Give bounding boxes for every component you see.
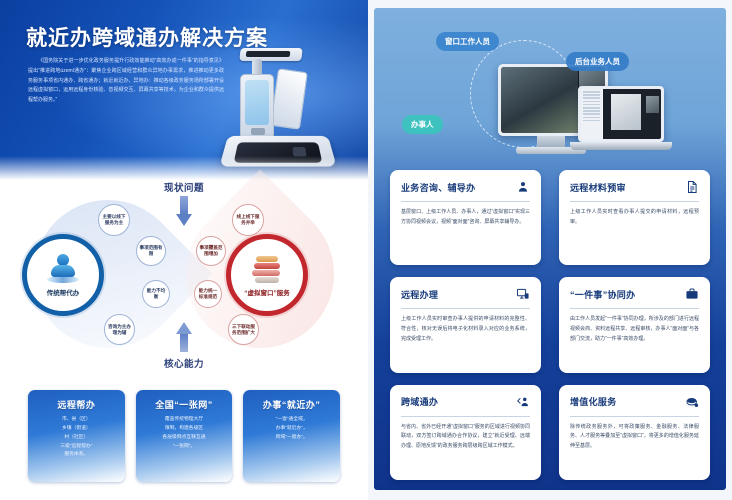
card-divider: [570, 416, 699, 417]
card-divider: [570, 201, 699, 202]
tag-window-staff: 窗口工作人员: [436, 32, 499, 51]
box-body: 覆盖传统物理大厅限制，构建各级区各层级网点互联互通“一张网”。: [142, 416, 227, 451]
card-body: 除传统政务服务外，可将政策服务、金融服务、法律服务、人才服务等叠加至“虚拟窗口”…: [570, 423, 699, 452]
card-divider: [570, 308, 699, 309]
scanner-bar: [239, 48, 302, 61]
laptop-base: [570, 142, 672, 150]
card-title: 跨域通办: [401, 395, 438, 408]
bubble-left-4: 咨询为主办理为辅: [104, 314, 135, 345]
card-divider: [401, 308, 530, 309]
user-icon: [516, 180, 530, 194]
card-title: “一件事”协同办: [570, 288, 635, 301]
card-title: 远程材料预审: [570, 181, 626, 194]
stacked-docs-icon: [250, 254, 284, 284]
feature-cards-grid: 业务咨询、辅导办 基层窗口、上级工作人员、办事人，通过“虚拟窗口”实现三方协同视…: [374, 170, 726, 480]
infographic-page: 就近办跨域通办解决方案 《国务院关于进一步优化政务服务提升行政效能推动“高效办成…: [0, 0, 732, 500]
tag-applicant: 办事人: [402, 115, 443, 134]
card-divider: [401, 416, 530, 417]
capability-box-remote-assist[interactable]: 远程帮办 市、县（区）乡镇（街道）村（社区）三级“远程帮办”服务体系。: [28, 390, 125, 482]
right-core-label: “虚拟窗口”服务: [244, 287, 290, 297]
bubble-right-3: 能力统一标准规范: [194, 280, 222, 308]
remote-service-illustration: 窗口工作人员 后台业务人员 办事人: [374, 8, 726, 166]
box-title: 远程帮办: [34, 398, 119, 411]
self-service-kiosk-illustration: [222, 48, 338, 170]
video-main-feed: [501, 67, 578, 133]
card-title: 增值化服务: [570, 395, 617, 408]
capability-boxes: 远程帮办 市、县（区）乡镇（街道）村（社区）三级“远程帮办”服务体系。 全国“一…: [28, 390, 340, 482]
capability-box-nearby-service[interactable]: 办事“就近办” “一窗”通全域，办事“就近办”，跨域“一窗办”。: [243, 390, 340, 482]
card-body: 由工作人员发起“一件事”协同办理，所涉及的部门进行远程视频会商、资料远程共享、远…: [570, 315, 699, 344]
right-panel: 窗口工作人员 后台业务人员 办事人 业务咨询、辅导办: [368, 0, 732, 500]
diagram-bottom-label: 核心能力: [0, 356, 368, 370]
card-remote-processing[interactable]: 远程办理 上级工作人员实时审查办事人提供的申请材料的完整性、符合性，核对无误后将…: [390, 277, 541, 372]
monitor-icon: [516, 287, 530, 301]
bubble-right-2: 事项覆盖范围增加: [196, 236, 226, 266]
laptop-device: [578, 86, 664, 142]
helper-person-icon: [46, 254, 80, 284]
bubble-left-1: 主要以线下服务为主: [98, 204, 130, 236]
kiosk-scan-pad: [234, 142, 323, 162]
tag-backoffice-staff: 后台业务人员: [566, 52, 629, 71]
bubble-left-3: 能力不均衡: [142, 280, 170, 308]
capability-diagram: 现状问题 传统帮代办 “虚拟窗口”服务 主要以线下服务为主 事项范围有限 能力: [0, 176, 368, 372]
card-value-added-service[interactable]: 增值化服务 除传统政务服务外，可将政策服务、金融服务、法律服务、人才服务等叠加至…: [559, 385, 710, 480]
card-cross-region-service[interactable]: 跨域通办 与省内、省外已经开通“虚拟窗口”服务的区域进行视频协同联动，双方签订跨…: [390, 385, 541, 480]
card-title: 远程办理: [401, 288, 438, 301]
service-icon: [685, 395, 699, 409]
policy-paragraph: 《国务院关于进一步优化政务服务提升行政效能推动“高效办成一件事”的指导意见》提出…: [28, 57, 224, 106]
box-title: 全国“一张网”: [142, 398, 227, 411]
card-one-thing-collaboration[interactable]: “一件事”协同办 由工作人员发起“一件事”协同办理，所涉及的部门进行远程视频会商…: [559, 277, 710, 372]
arrow-down-icon: [176, 196, 192, 226]
bubble-left-2: 事项范围有限: [136, 236, 166, 266]
diagram-top-label: 现状问题: [0, 180, 368, 194]
card-remote-material-review[interactable]: 远程材料预审 上级工作人员实时查看办事人提交的申请材料，远程预审。: [559, 170, 710, 265]
box-body: “一窗”通全域，办事“就近办”，跨域“一窗办”。: [249, 416, 334, 443]
card-body: 上级工作人员实时审查办事人提供的申请材料的完整性、符合性，核对无误后将电子化材料…: [401, 315, 530, 344]
card-body: 与省内、省外已经开通“虚拟窗口”服务的区域进行视频协同联动，双方签订跨域通办合作…: [401, 423, 530, 452]
virtual-window-circle: “虚拟窗口”服务: [226, 234, 308, 316]
laptop-viewport: [603, 89, 661, 139]
right-panel-inner: 窗口工作人员 后台业务人员 办事人 业务咨询、辅导办: [374, 8, 726, 490]
document-icon: [685, 180, 699, 194]
arrow-up-icon: [176, 322, 192, 352]
card-divider: [401, 201, 530, 202]
card-business-consultation[interactable]: 业务咨询、辅导办 基层窗口、上级工作人员、办事人，通过“虚拟窗口”实现三方协同视…: [390, 170, 541, 265]
capability-box-one-network[interactable]: 全国“一张网” 覆盖传统物理大厅限制，构建各级区各层级网点互联互通“一张网”。: [136, 390, 233, 482]
left-core-label: 传统帮代办: [47, 287, 80, 297]
card-body: 上级工作人员实时查看办事人提交的申请材料，远程预审。: [570, 208, 699, 228]
traditional-service-circle: 传统帮代办: [22, 234, 104, 316]
bubble-right-1: 线上线下服务并举: [232, 204, 264, 236]
box-title: 办事“就近办”: [249, 398, 334, 411]
laptop-sidebar: [581, 89, 602, 139]
briefcase-icon: [685, 287, 699, 301]
kiosk-side-screen: [270, 68, 308, 130]
hero-banner: 就近办跨域通办解决方案 《国务院关于进一步优化政务服务提升行政效能推动“高效办成…: [0, 0, 368, 182]
card-title: 业务咨询、辅导办: [401, 181, 475, 194]
box-body: 市、县（区）乡镇（街道）村（社区）三级“远程帮办”服务体系。: [34, 416, 119, 460]
kiosk-main-screen: [240, 74, 274, 140]
location-user-icon: [516, 395, 530, 409]
card-body: 基层窗口、上级工作人员、办事人，通过“虚拟窗口”实现三方协同视频会议，视频“面对…: [401, 208, 530, 228]
bubble-right-4: 三下联动服务范围扩大: [228, 314, 259, 345]
left-panel: 就近办跨域通办解决方案 《国务院关于进一步优化政务服务提升行政效能推动“高效办成…: [0, 0, 368, 500]
